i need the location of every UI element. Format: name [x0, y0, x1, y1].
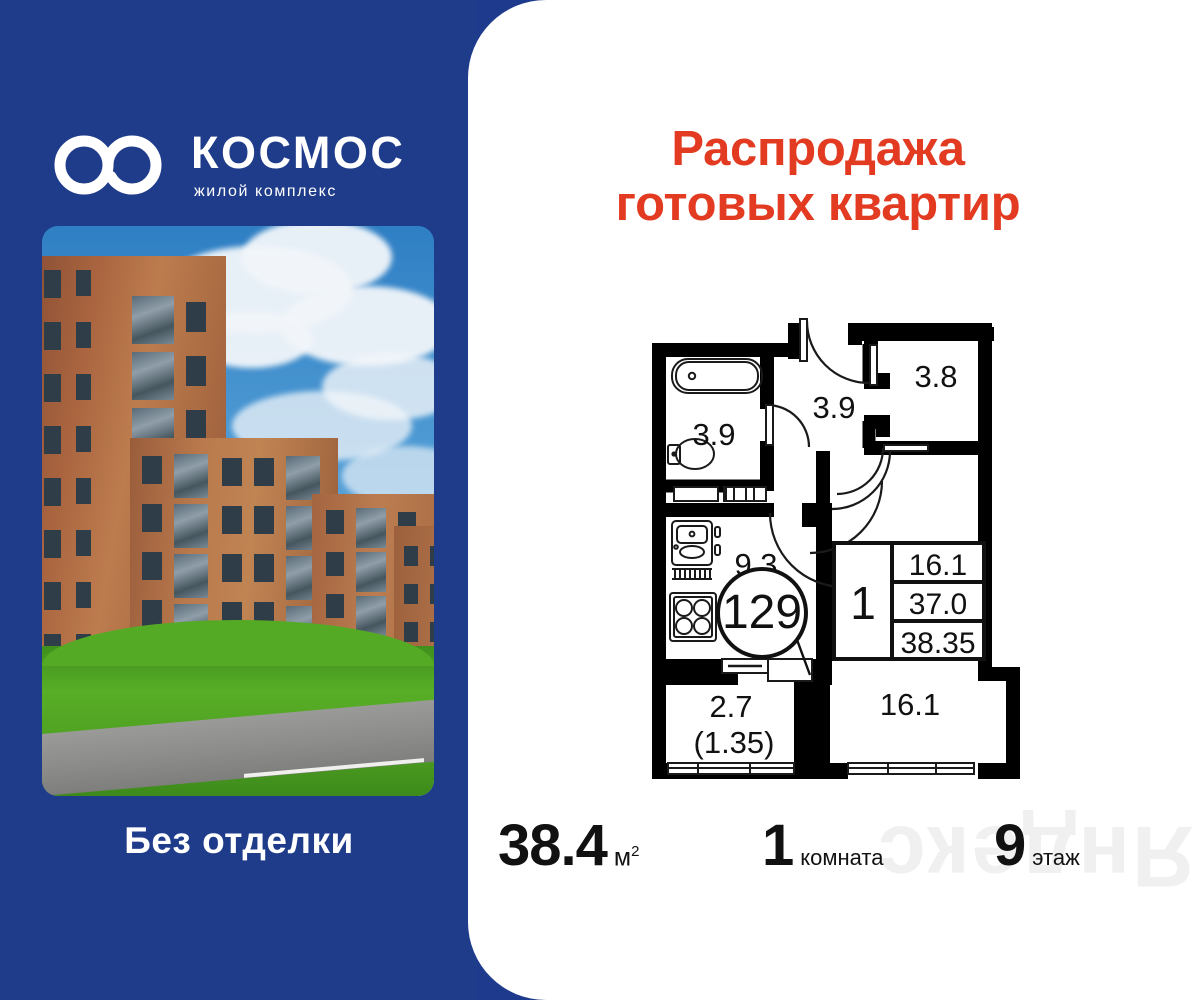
stat-rooms-value: 1	[762, 812, 793, 879]
promo-headline-line2: готовых квартир	[468, 177, 1168, 232]
details-card: Распродажа готовых квартир	[468, 0, 1200, 1000]
stat-floor: 9 этаж	[994, 812, 1080, 879]
stat-rooms-unit: комната	[800, 845, 883, 871]
stat-area-value: 38.4	[498, 812, 607, 879]
room-area-living: 16.1	[880, 687, 940, 722]
apartment-info-table: 1 16.1 37.0 38.35	[834, 543, 984, 660]
finish-type-caption: Без отделки	[0, 820, 478, 862]
stat-area-unit: м2	[614, 843, 640, 872]
stat-floor-value: 9	[994, 812, 1025, 879]
svg-text:129: 129	[722, 586, 802, 639]
brand-name: КОСМОС	[191, 130, 405, 175]
svg-text:38.35: 38.35	[900, 627, 975, 660]
promo-headline-line1: Распродажа	[468, 122, 1168, 177]
brand-tagline: жилой комплекс	[194, 184, 405, 200]
brand-panel: КОСМОС жилой комплекс	[0, 0, 478, 1000]
room-area-hallway: 3.9	[812, 390, 855, 425]
stat-floor-unit: этаж	[1032, 845, 1080, 871]
infinity-icon	[52, 134, 167, 196]
listing-card: КОСМОС жилой комплекс	[0, 0, 1200, 1000]
floorplan: 3.9 3.9 3.8 9.3 16.1 2.7 (1.35) 129	[638, 255, 1048, 795]
apartment-stats: Яндекс 38.4 м2 1 комната 9 этаж	[498, 812, 1198, 902]
room-area-balcony: 2.7	[709, 689, 752, 724]
brand-logo: КОСМОС жилой комплекс	[52, 125, 452, 205]
room-area-balcony-counted: (1.35)	[694, 725, 775, 760]
room-area-bathroom: 3.9	[692, 417, 735, 452]
svg-text:37.0: 37.0	[909, 588, 967, 621]
svg-text:16.1: 16.1	[909, 549, 967, 582]
stat-area: 38.4 м2	[498, 812, 639, 879]
building-photo	[42, 226, 434, 796]
promo-headline: Распродажа готовых квартир	[468, 122, 1168, 232]
stat-rooms: 1 комната	[762, 812, 883, 879]
svg-text:1: 1	[850, 577, 876, 629]
room-area-storage: 3.8	[914, 359, 957, 394]
